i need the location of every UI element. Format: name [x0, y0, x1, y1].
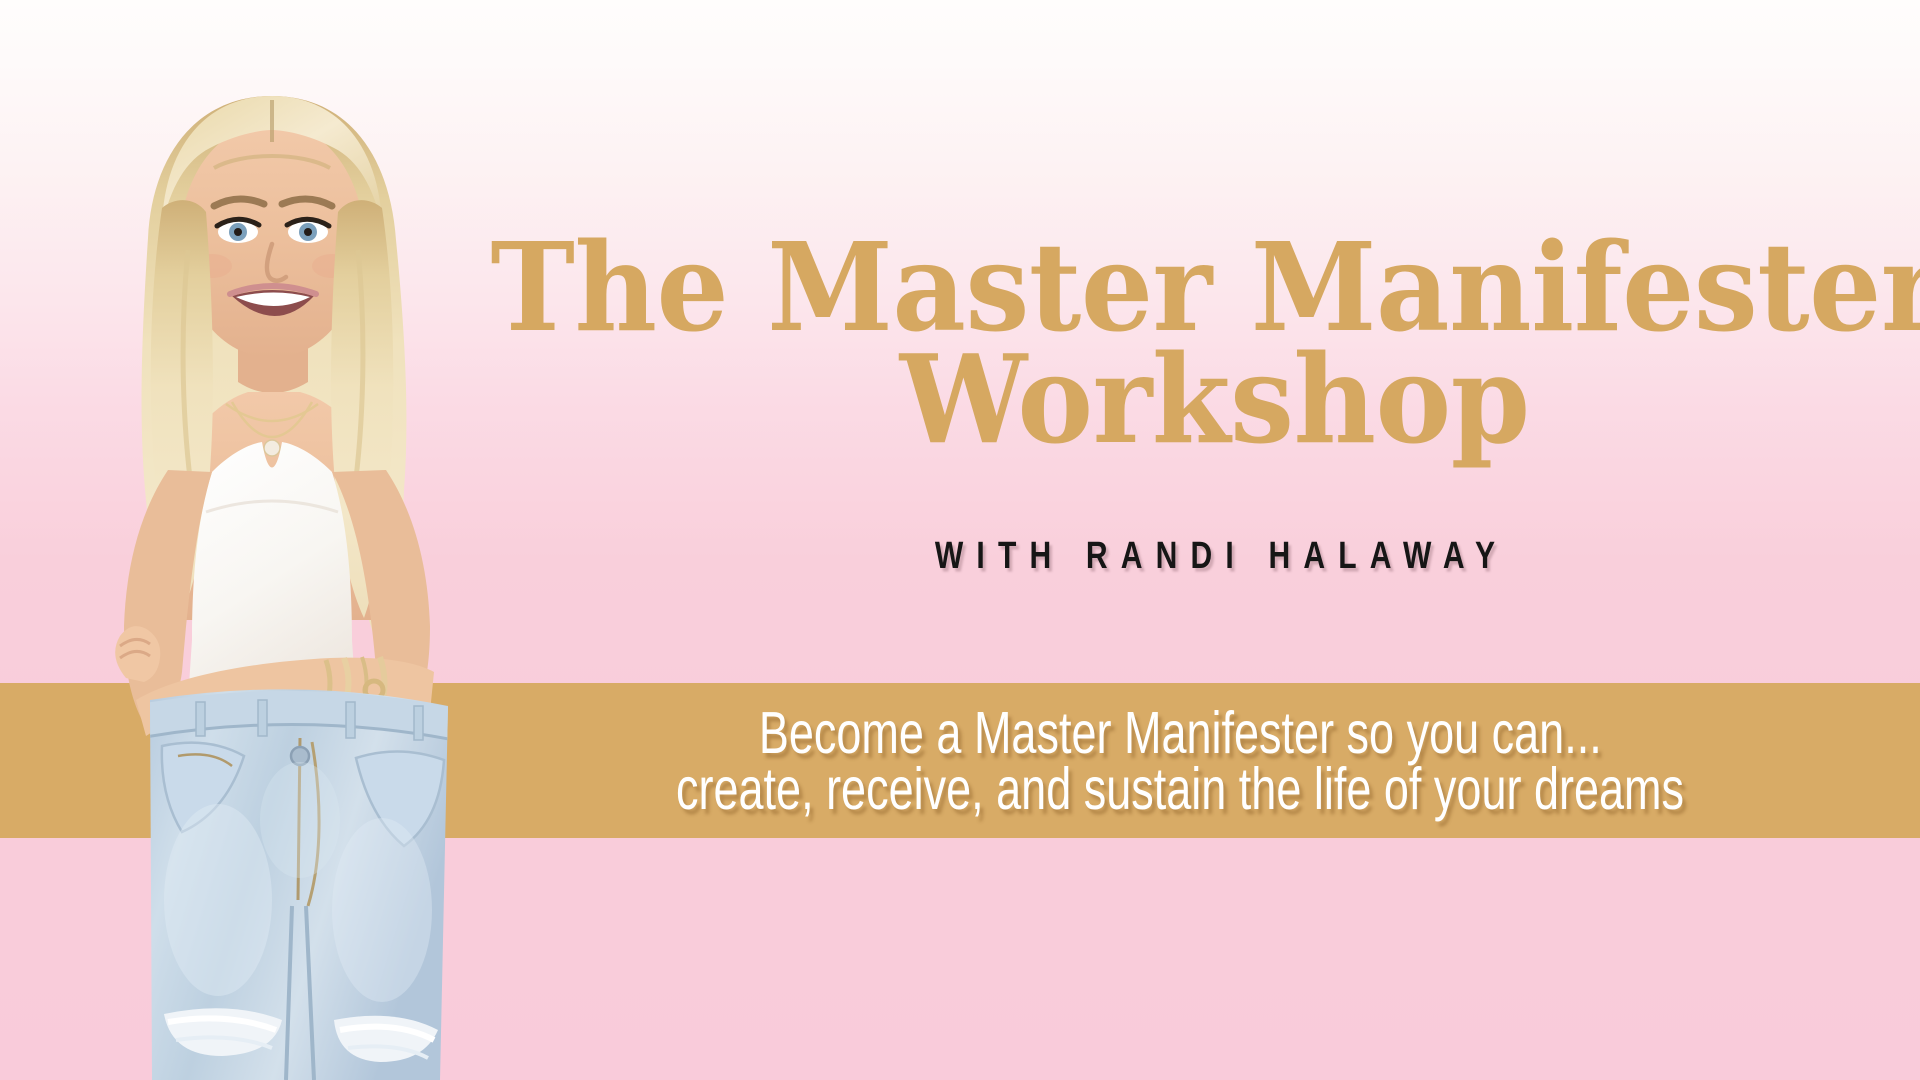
headline-line-2: Workshop	[900, 340, 1530, 458]
headline-block: The Master Manifester Workshop WITH RAND…	[560, 0, 1870, 683]
hair-front	[151, 96, 394, 618]
gold-accent-band	[0, 683, 1920, 838]
necklace	[226, 402, 318, 456]
hair-back	[142, 96, 407, 648]
face	[169, 122, 375, 358]
presenter-credit: WITH RANDI HALAWAY	[922, 533, 1508, 577]
promo-banner: The Master Manifester Workshop WITH RAND…	[0, 0, 1920, 1080]
tank-top	[188, 442, 356, 711]
presenter-photo	[0, 0, 640, 1080]
